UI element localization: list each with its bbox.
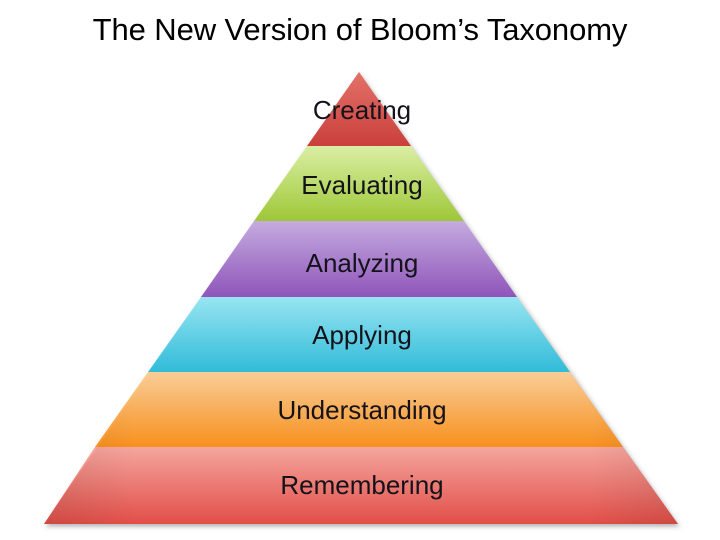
blooms-taxonomy-pyramid[interactable]: Creating Evaluating Analyzing Applying U… [40, 66, 684, 532]
slide-canvas: The New Version of Bloom’s Taxonomy [0, 0, 720, 540]
page-title: The New Version of Bloom’s Taxonomy [0, 12, 720, 48]
pyramid-shape [40, 66, 684, 532]
